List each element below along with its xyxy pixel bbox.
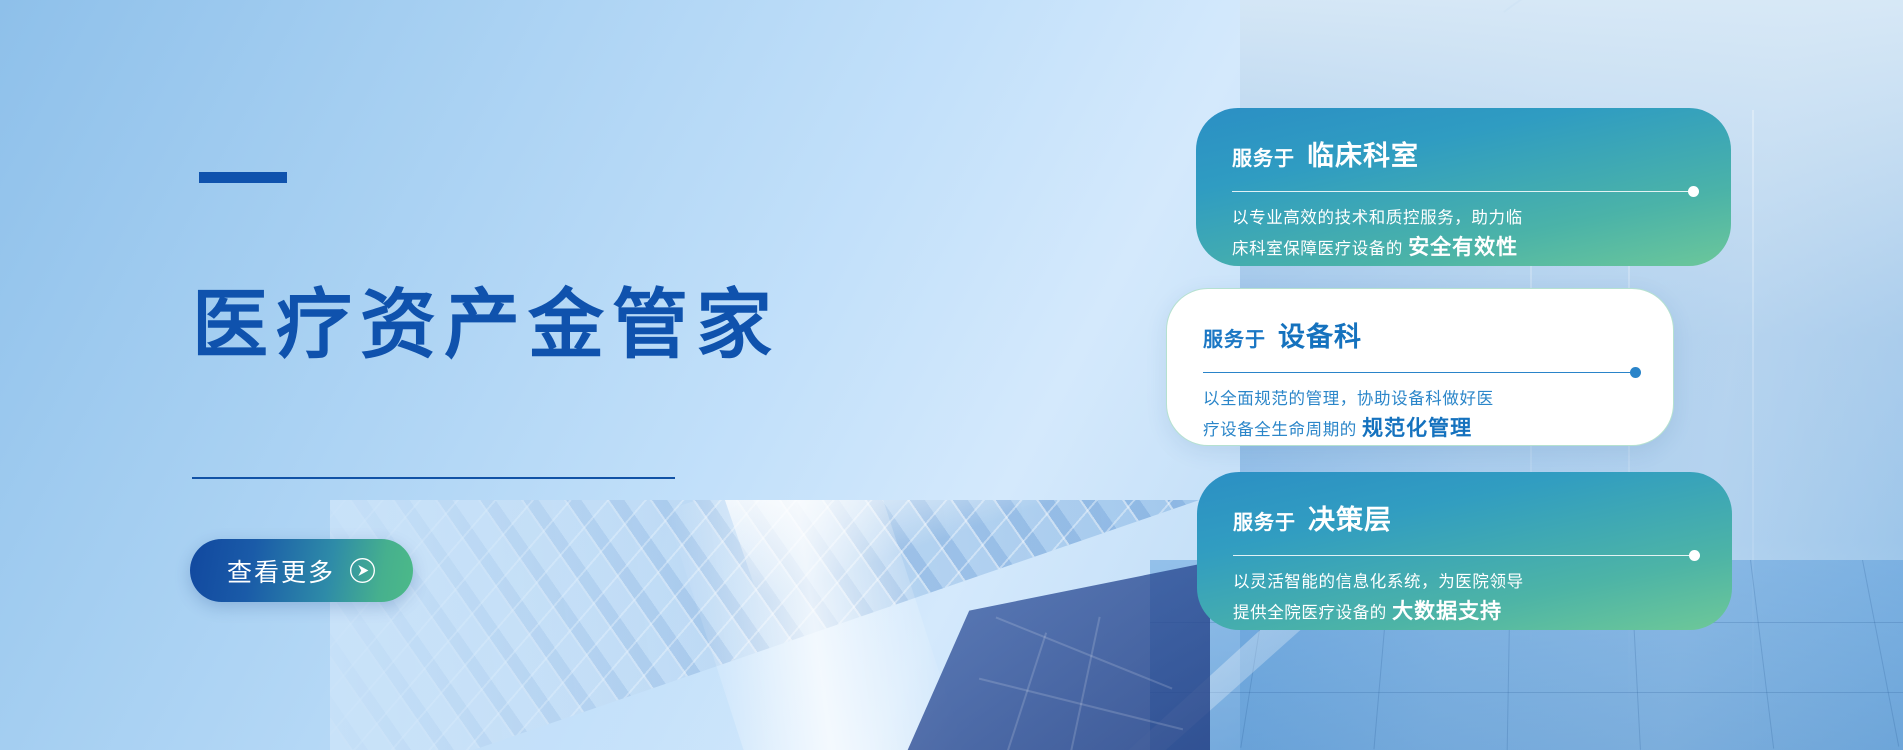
rule-dot-icon [1688,186,1699,197]
card-keyword: 临床科室 [1307,134,1419,173]
service-card-decision[interactable]: 服务于 决策层 以灵活智能的信息化系统，为医院领导 提供全院医疗设备的 大数据支… [1197,472,1732,630]
card-body: 以专业高效的技术和质控服务，助力临 床科室保障医疗设备的 安全有效性 [1232,206,1695,264]
card-line: 以全面规范的管理，协助设备科做好医 [1203,387,1637,413]
service-card-equipment[interactable]: 服务于 设备科 以全面规范的管理，协助设备科做好医 疗设备全生命周期的 规范化管… [1166,288,1674,446]
rule-line [1233,555,1696,556]
card-rule [1203,367,1637,378]
card-rule [1232,186,1695,197]
hero-banner: 医疗资产金管家 查看更多 服务于 临床科室 以专业高效的技术和质控服务，助力临 … [0,0,1903,750]
arrow-right-circle-icon [349,557,376,584]
card-heading: 服务于 决策层 [1233,498,1696,537]
accent-dash [199,172,287,183]
card-line: 以灵活智能的信息化系统，为医院领导 [1233,570,1696,596]
card-line-text: 疗设备全生命周期的 [1203,421,1357,439]
rule-line [1203,372,1637,373]
card-body: 以灵活智能的信息化系统，为医院领导 提供全院医疗设备的 大数据支持 [1233,570,1696,628]
card-prefix: 服务于 [1203,323,1266,352]
card-keyword: 决策层 [1308,498,1392,537]
rule-line [1232,191,1695,192]
card-prefix: 服务于 [1233,506,1296,535]
card-line-text: 以全面规范的管理，协助设备科做好医 [1203,390,1494,408]
card-line: 床科室保障医疗设备的 安全有效性 [1232,232,1695,265]
page-title: 医疗资产金管家 [192,288,780,364]
card-line-text: 以专业高效的技术和质控服务，助力临 [1232,209,1523,227]
hero-left-content: 医疗资产金管家 查看更多 [0,0,780,750]
card-line: 以专业高效的技术和质控服务，助力临 [1232,206,1695,232]
view-more-label: 查看更多 [227,553,335,589]
horizontal-divider [192,477,675,479]
card-keyword: 设备科 [1278,315,1362,354]
card-heading: 服务于 设备科 [1203,315,1637,354]
card-line-text: 以灵活智能的信息化系统，为医院领导 [1233,573,1524,591]
card-rule [1233,550,1696,561]
service-card-clinical[interactable]: 服务于 临床科室 以专业高效的技术和质控服务，助力临 床科室保障医疗设备的 安全… [1196,108,1731,266]
card-line-text: 床科室保障医疗设备的 [1232,240,1403,258]
rule-dot-icon [1689,550,1700,561]
card-line-emphasis: 安全有效性 [1408,236,1518,259]
card-line: 疗设备全生命周期的 规范化管理 [1203,413,1637,446]
card-body: 以全面规范的管理，协助设备科做好医 疗设备全生命周期的 规范化管理 [1203,387,1637,445]
card-line: 提供全院医疗设备的 大数据支持 [1233,596,1696,629]
card-line-emphasis: 规范化管理 [1362,417,1472,440]
rule-dot-icon [1630,367,1641,378]
card-prefix: 服务于 [1232,142,1295,171]
card-line-emphasis: 大数据支持 [1392,600,1502,623]
view-more-button[interactable]: 查看更多 [190,539,413,602]
card-heading: 服务于 临床科室 [1232,134,1695,173]
card-line-text: 提供全院医疗设备的 [1233,604,1387,622]
